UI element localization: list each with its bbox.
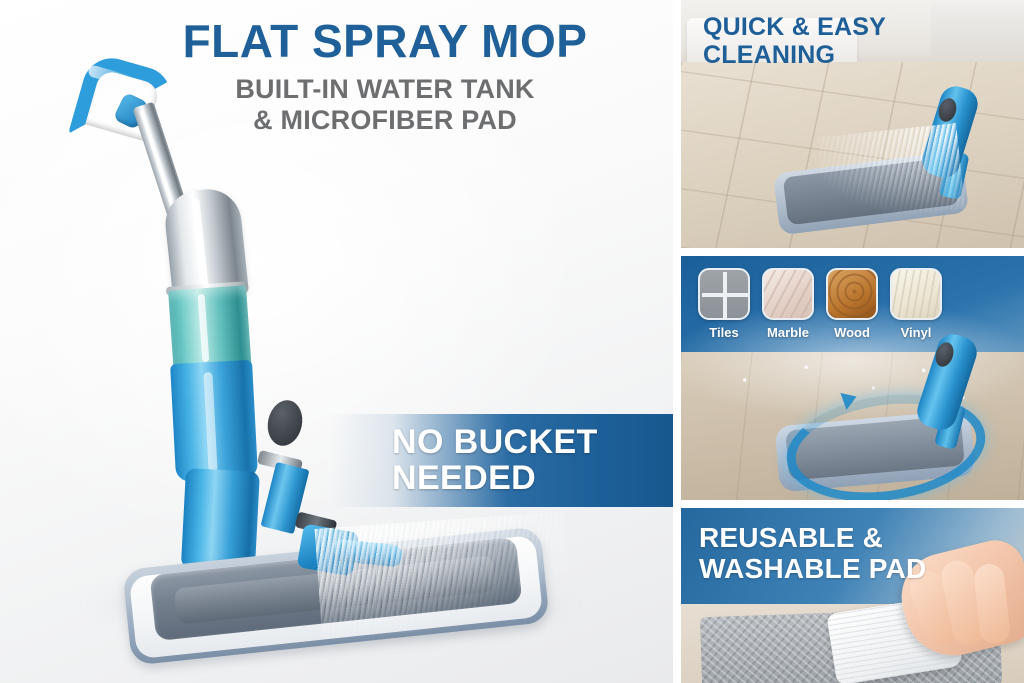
mop-water-tank [168,285,251,370]
panel-bottom-title-line-2: WASHABLE PAD [699,553,926,584]
surface-type-list: Tiles Marble Wood Vinyl [698,268,942,340]
panel-top-title-line-2: CLEANING [703,42,886,70]
tiles-swatch-icon [698,268,750,320]
spray-mop-illustration [0,0,673,683]
vinyl-swatch-icon [890,268,942,320]
panel-top-title: QUICK & EASY CLEANING [703,14,886,69]
no-bucket-line-1: NO BUCKET [392,425,673,460]
panel-bottom-title-line-1: REUSABLE & [699,522,926,553]
wood-swatch-icon [826,268,878,320]
surface-chip-wood[interactable]: Wood [826,268,878,340]
panel-reusable-washable-pad: REUSABLE & WASHABLE PAD [681,508,1024,683]
panel-bottom-title: REUSABLE & WASHABLE PAD [699,522,926,585]
surface-chip-label: Vinyl [890,325,942,340]
surface-chip-label: Tiles [698,325,750,340]
marble-swatch-icon [762,268,814,320]
no-bucket-line-2: NEEDED [392,461,673,496]
panel-top-spray-fan [817,123,965,223]
panel-top-title-line-1: QUICK & EASY [703,14,886,42]
mop-spray-trigger-button [264,397,307,449]
panel-surface-types: Tiles Marble Wood Vinyl [681,256,1024,500]
hero-panel: FLAT SPRAY MOP BUILT-IN WATER TANK & MIC… [0,0,673,683]
room-cabinet [931,4,1024,62]
surface-chip-label: Wood [826,325,878,340]
surface-chip-tiles[interactable]: Tiles [698,268,750,340]
panel-quick-easy-cleaning: QUICK & EASY CLEANING [681,0,1024,248]
water-spray-fan [314,511,571,638]
surface-chip-marble[interactable]: Marble [762,268,814,340]
no-bucket-banner: NO BUCKET NEEDED [330,414,673,507]
feature-panel-column: QUICK & EASY CLEANING Tiles Marble [681,0,1024,683]
surface-chip-vinyl[interactable]: Vinyl [890,268,942,340]
product-infographic: FLAT SPRAY MOP BUILT-IN WATER TANK & MIC… [0,0,1024,683]
surface-chip-label: Marble [762,325,814,340]
no-bucket-banner-text: NO BUCKET NEEDED [330,425,673,496]
